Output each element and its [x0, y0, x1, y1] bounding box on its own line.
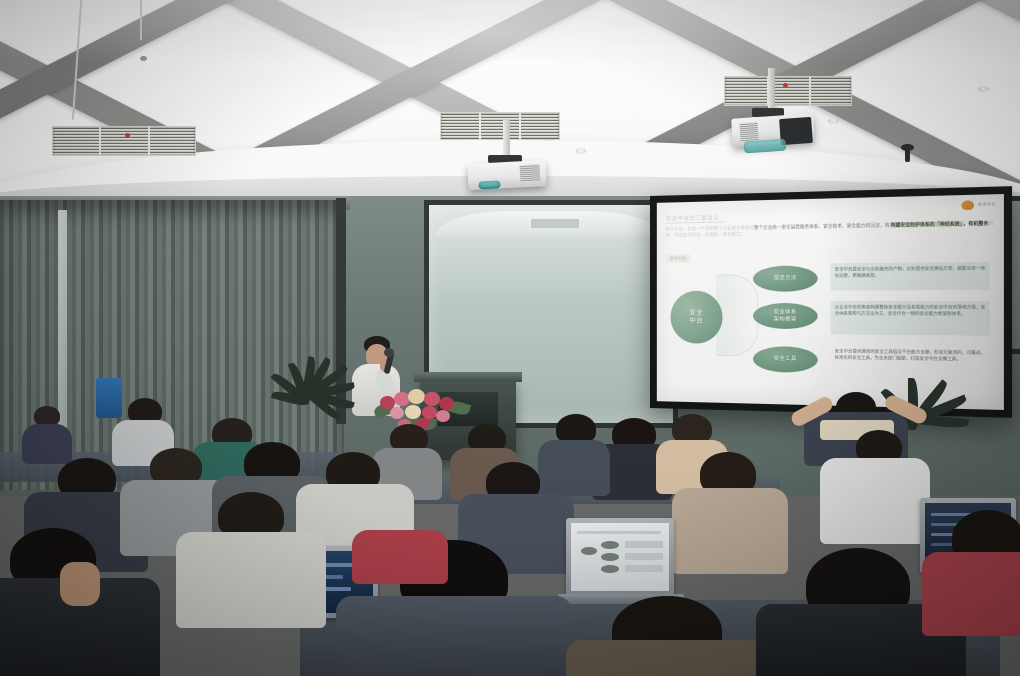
diagram-connector [716, 274, 758, 356]
flower-arrangement [372, 388, 474, 432]
diagram-hub: 安全 中台 [671, 291, 723, 344]
air-vent-left [52, 126, 196, 156]
slide-logo: 安全中台 [962, 200, 996, 211]
branch-pill-2: 安全体系 架构框架 [753, 303, 818, 329]
logo-mark-icon [962, 200, 975, 210]
hub-line-1: 安全 [689, 309, 703, 317]
conference-room-photo: 安全中台 安全中台的三层含义 安全中台，是第一个提供整个企业安全体系的整个企业统… [0, 0, 1020, 676]
hub-line-2: 中台 [689, 317, 703, 325]
laptop-display-center [571, 523, 669, 591]
branch-pill-1: 理念方法 [753, 265, 818, 291]
branch-body-1: 安全中台是安全与业务融合的产物，对外提供安全建设方案，赋能业务一体化运营，更敏捷… [835, 265, 986, 277]
title-underline [666, 221, 726, 223]
downlight-2 [828, 118, 839, 124]
air-vent-right [724, 76, 852, 106]
branch-label-2b: 架构框架 [774, 316, 797, 323]
microphone-head [384, 348, 394, 357]
branch-label-3: 安全工具 [774, 356, 797, 363]
logo-text: 安全中台 [978, 202, 996, 208]
projector-mount-pole-right [768, 68, 775, 112]
laptop-screen-center[interactable] [566, 518, 674, 596]
lectern-top [414, 372, 522, 382]
water-dispenser[interactable] [96, 378, 122, 418]
air-vent-center [440, 112, 560, 140]
projector-mount-pole-left [503, 120, 510, 158]
ceiling-sensor [140, 56, 147, 61]
branch-body-2: 从企业中台的角度构建整体安全能力及各类能力的安全中台的落地方案、安全体系架构与方… [835, 304, 986, 316]
downlight-3 [978, 86, 989, 92]
potted-palm [268, 330, 358, 440]
branch-body-3: 安全中台提供通用的安全工具链及平台能力支撑，形成可复用的、可集成、标准化的安全工… [835, 348, 986, 361]
projector-left [467, 160, 546, 190]
paragraph-tail: ，有机整合 [963, 220, 988, 226]
ceiling-speaker-head [901, 144, 914, 151]
downlight-1 [576, 148, 586, 154]
paragraph-strong: 构建安全防护体系的「神经系统」 [890, 221, 964, 228]
branch-pill-3: 安全工具 [753, 346, 818, 373]
branch-text-2: 从企业中台的角度构建整体安全能力及各类能力的安全中台的落地方案、安全体系架构与方… [830, 301, 990, 336]
glass-label-plate [531, 219, 579, 228]
slide-paragraph: 安全中台，是第一个提供整个企业安全体系的整个企业统一安全运营服务体系、安全技术、… [666, 220, 994, 239]
paragraph-mid: 整个企业统一安全运营服务体系、安全技术、安全能力的沉淀，将 [754, 222, 890, 230]
branch-label-1: 理念方法 [774, 275, 797, 282]
branch-text-1: 安全中台是安全与业务融合的产物，对外提供安全建设方案，赋能业务一体化运营，更敏捷… [830, 262, 990, 291]
slide-subtag: 安全中台 [666, 255, 690, 263]
